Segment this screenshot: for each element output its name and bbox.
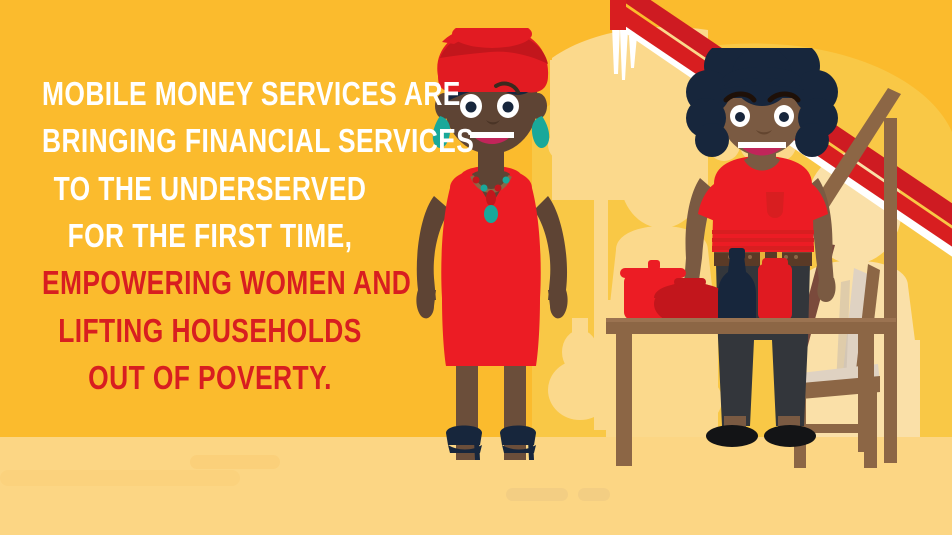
caption-block: MOBILE MONEY SERVICES ARE BRINGING FINAN… [0, 78, 420, 409]
caption-line-3: TO THE UNDERSERVED [42, 173, 378, 205]
market-table [606, 318, 896, 466]
market-wares [612, 246, 792, 326]
floor-shadow-mid [0, 470, 240, 486]
slide-canvas: MOBILE MONEY SERVICES ARE BRINGING FINAN… [0, 0, 952, 535]
progress-bar-active[interactable] [506, 488, 568, 501]
floor-shadow-left [190, 455, 280, 469]
caption-line-4: FOR THE FIRST TIME, [42, 220, 378, 252]
caption-line-1: MOBILE MONEY SERVICES ARE [42, 78, 378, 110]
caption-line-6: LIFTING HOUSEHOLDS [42, 315, 378, 347]
caption-line-5: EMPOWERING WOMEN AND [42, 267, 378, 299]
caption-line-2: BRINGING FINANCIAL SERVICES [42, 125, 378, 157]
caption-line-7: OUT OF POVERTY. [42, 362, 378, 394]
progress-bar-inactive[interactable] [578, 488, 610, 501]
slide-progress-indicator[interactable] [506, 488, 610, 501]
